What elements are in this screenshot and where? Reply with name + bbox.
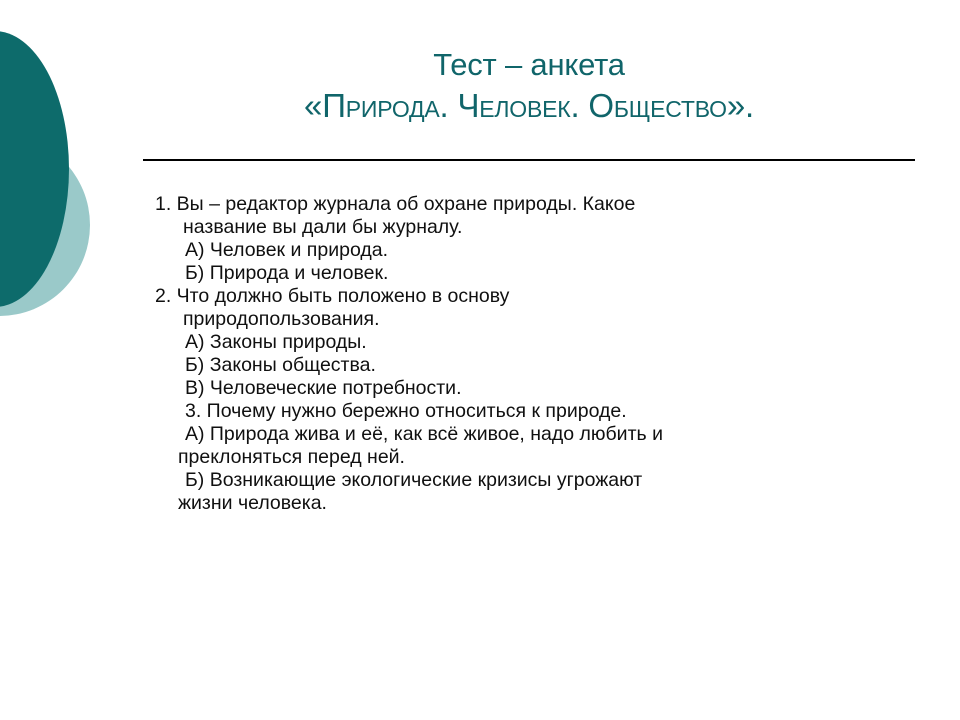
- slide-title-line-2: «Природа. Человек. Общество».: [143, 85, 915, 126]
- questionnaire-line: А) Природа жива и её, как всё живое, над…: [150, 423, 940, 446]
- questionnaire-line: название вы дали бы журналу.: [150, 216, 940, 239]
- questionnaire-line: 3. Почему нужно бережно относиться к при…: [150, 400, 940, 423]
- slide-canvas: Тест – анкета «Природа. Человек. Обществ…: [0, 0, 960, 720]
- questionnaire-line: 1. Вы – редактор журнала об охране приро…: [150, 193, 940, 216]
- questionnaire-line: жизни человека.: [150, 492, 940, 515]
- slide-title: Тест – анкета «Природа. Человек. Обществ…: [143, 44, 915, 126]
- questionnaire-line: А) Законы природы.: [150, 331, 940, 354]
- questionnaire-line: Б) Законы общества.: [150, 354, 940, 377]
- title-divider-rule: [143, 159, 915, 161]
- questionnaire-line: природопользования.: [150, 308, 940, 331]
- slide-title-line-1: Тест – анкета: [143, 44, 915, 85]
- questionnaire-line: Б) Природа и человек.: [150, 262, 940, 285]
- questionnaire-line: 2. Что должно быть положено в основу: [150, 285, 940, 308]
- questionnaire-line: А) Человек и природа.: [150, 239, 940, 262]
- questionnaire-line: преклоняться перед ней.: [150, 446, 940, 469]
- questionnaire-line: В) Человеческие потребности.: [150, 377, 940, 400]
- questionnaire-body: 1. Вы – редактор журнала об охране приро…: [150, 193, 940, 515]
- questionnaire-line: Б) Возникающие экологические кризисы угр…: [150, 469, 940, 492]
